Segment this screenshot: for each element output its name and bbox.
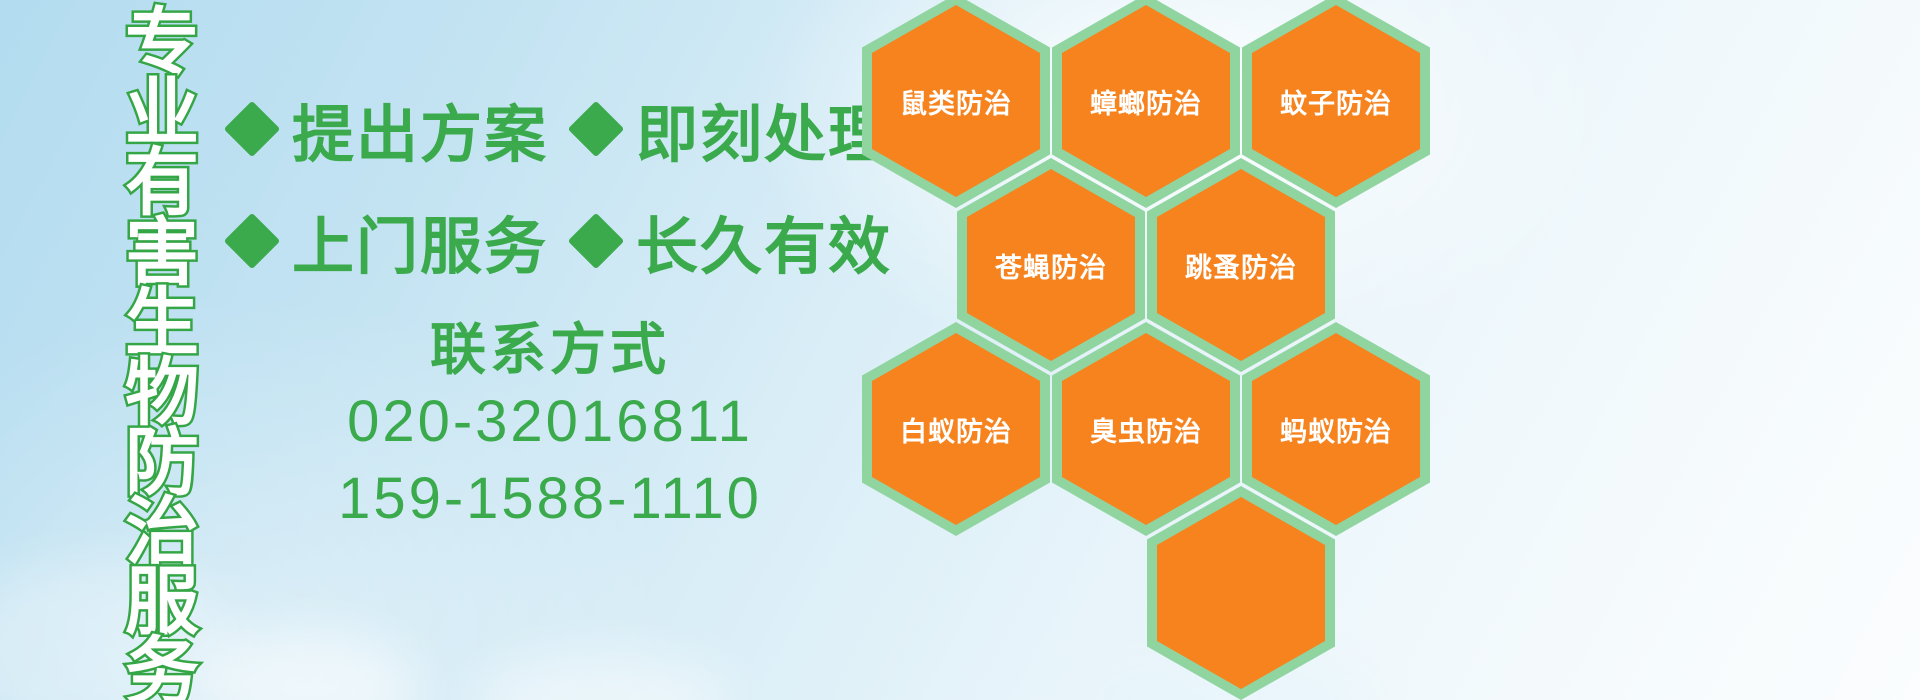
hex-inner: 蚂蚁防治 — [1252, 333, 1420, 525]
hex-inner: 跳蚤防治 — [1157, 169, 1325, 361]
hex-inner — [1157, 497, 1325, 689]
diamond-bullet-icon — [224, 213, 281, 270]
hex-inner: 白蚁防治 — [872, 333, 1040, 525]
hex-inner: 苍蝇防治 — [967, 169, 1135, 361]
background-blob — [200, 630, 420, 700]
service-hex-grid: 鼠类防治 蟑螂防治 蚊子防治 苍蝇防治 跳蚤防治 白蚁防治 — [862, 0, 1462, 546]
service-label: 跳蚤防治 — [1185, 246, 1297, 285]
feature-label-immediate-handling: 即刻处理 — [636, 84, 892, 174]
diamond-bullet-icon — [568, 213, 625, 270]
feature-row-1: 提出方案 即刻处理 — [232, 84, 892, 174]
contact-phone-landline[interactable]: 020-32016811 — [300, 384, 800, 461]
feature-label-onsite-service: 上门服务 — [292, 196, 548, 286]
contact-block: 联系方式 020-32016811 159-1588-1110 — [300, 316, 800, 537]
background-blob — [470, 650, 730, 700]
pest-control-banner: 专业有害生物防治服务 提出方案 即刻处理 上门服务 长久有效 联系方式 020-… — [0, 0, 1920, 700]
hex-inner: 臭虫防治 — [1062, 333, 1230, 525]
feature-row-2: 上门服务 长久有效 — [232, 196, 892, 286]
service-label: 蚂蚁防治 — [1280, 410, 1392, 449]
feature-label-long-lasting: 长久有效 — [636, 196, 892, 286]
diamond-bullet-icon — [568, 101, 625, 158]
hex-inner: 鼠类防治 — [872, 5, 1040, 197]
service-label: 苍蝇防治 — [995, 246, 1107, 285]
service-label: 蟑螂防治 — [1090, 82, 1202, 121]
feature-label-propose-plan: 提出方案 — [292, 84, 548, 174]
hex-inner: 蚊子防治 — [1252, 5, 1420, 197]
diamond-bullet-icon — [224, 101, 281, 158]
service-label: 鼠类防治 — [900, 82, 1012, 121]
contact-title: 联系方式 — [300, 316, 800, 384]
hex-inner: 蟑螂防治 — [1062, 5, 1230, 197]
service-label: 白蚁防治 — [900, 410, 1012, 449]
service-label: 臭虫防治 — [1090, 410, 1202, 449]
contact-phone-mobile[interactable]: 159-1588-1110 — [300, 461, 800, 538]
vertical-headline: 专业有害生物防治服务 — [110, 8, 214, 568]
service-label: 蚊子防治 — [1280, 82, 1392, 121]
